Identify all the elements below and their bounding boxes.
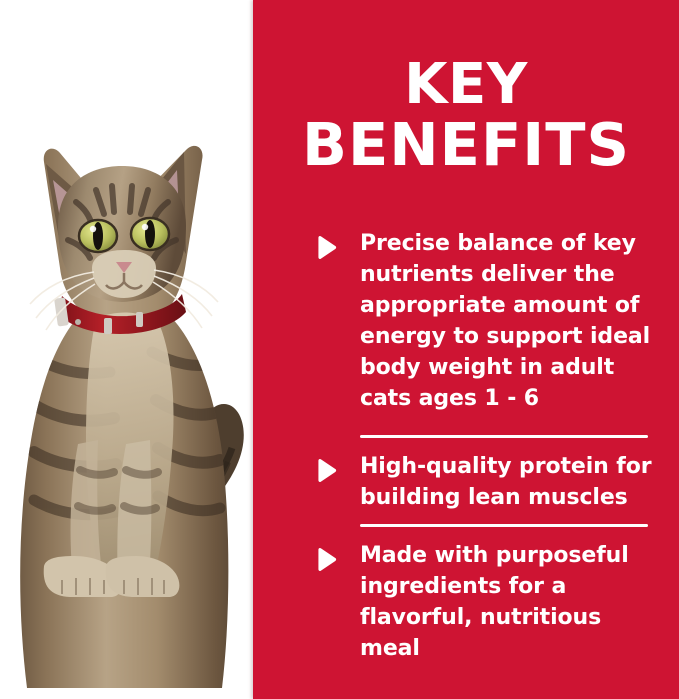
product-benefits-card: KEY BENEFITS Precise balance of key nutr… — [0, 0, 679, 699]
bullet-marker-cell — [313, 451, 360, 483]
list-item: Made with purposeful ingredients for a f… — [313, 540, 663, 664]
play-triangle-icon — [313, 235, 338, 260]
list-item: Precise balance of key nutrients deliver… — [313, 228, 663, 414]
benefit-text: Made with purposeful ingredients for a f… — [360, 540, 663, 664]
title-line-1: KEY — [404, 52, 528, 117]
play-triangle-icon — [313, 458, 338, 483]
bullet-marker-cell — [313, 228, 360, 260]
spacer — [313, 414, 663, 424]
bullet-marker-cell — [313, 540, 360, 572]
key-benefits-panel: KEY BENEFITS Precise balance of key nutr… — [253, 0, 679, 699]
list-item: High-quality protein for building lean m… — [313, 451, 663, 513]
divider — [360, 435, 648, 438]
play-triangle-icon — [313, 547, 338, 572]
divider — [360, 524, 648, 527]
benefits-list: Precise balance of key nutrients deliver… — [313, 228, 663, 664]
title-line-2: BENEFITS — [253, 115, 679, 175]
benefit-text: High-quality protein for building lean m… — [360, 451, 663, 513]
benefit-text: Precise balance of key nutrients deliver… — [360, 228, 663, 414]
cat-photo-illustration — [0, 0, 253, 699]
page-title: KEY BENEFITS — [253, 55, 679, 175]
product-photo-pane — [0, 0, 253, 699]
